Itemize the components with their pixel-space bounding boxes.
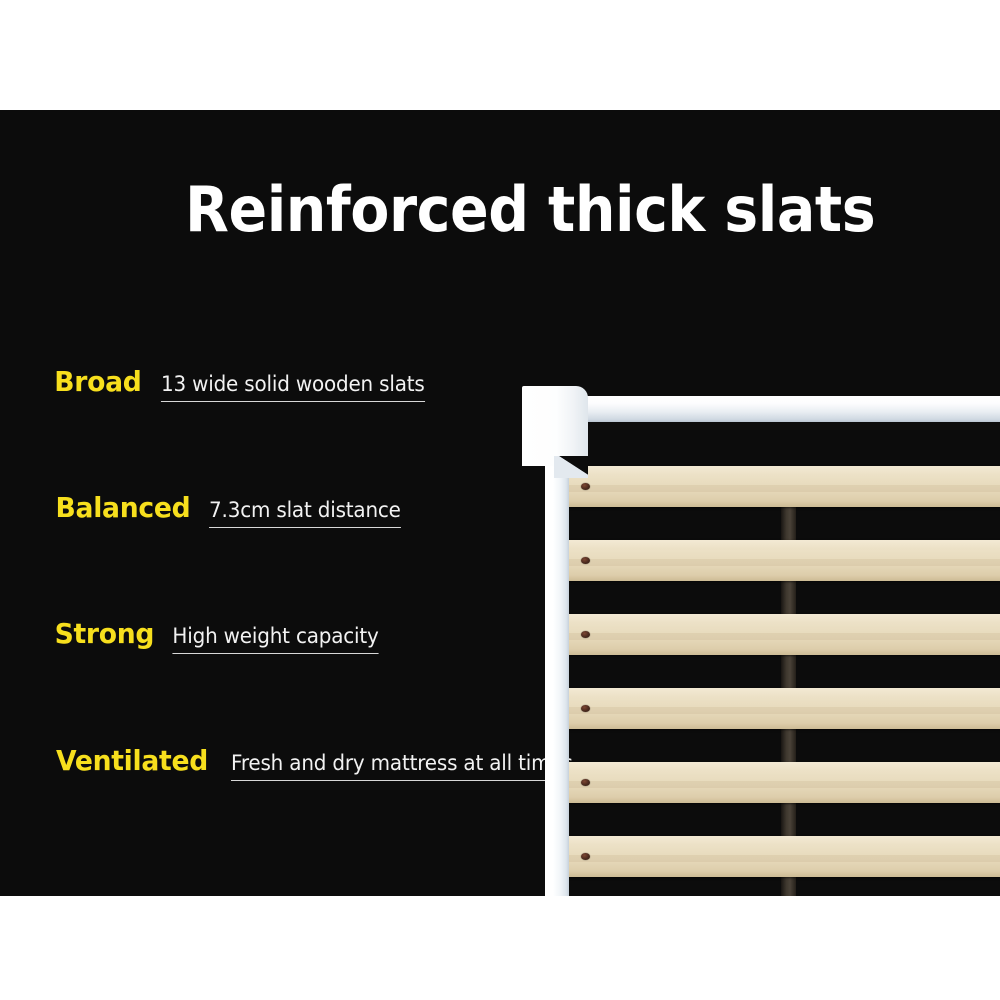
feature-description: 7.3cm slat distance bbox=[209, 498, 401, 528]
slat-screw bbox=[581, 483, 590, 490]
feature-item-ventilated: Ventilated Fresh and dry mattress at all… bbox=[52, 744, 582, 781]
slat-screw bbox=[581, 853, 590, 860]
bottom-white-margin bbox=[0, 896, 1000, 1000]
side-rail-shadow bbox=[553, 422, 1000, 439]
corner-post bbox=[522, 386, 588, 466]
feature-description: High weight capacity bbox=[172, 624, 378, 654]
wooden-slat bbox=[567, 762, 1000, 803]
product-photo bbox=[505, 280, 1000, 896]
feature-description: 13 wide solid wooden slats bbox=[161, 372, 425, 402]
wooden-slat-group bbox=[505, 280, 1000, 896]
slat-screw bbox=[581, 557, 590, 564]
side-rail bbox=[550, 396, 1000, 422]
slat-screw bbox=[581, 705, 590, 712]
feature-term: Broad bbox=[54, 365, 141, 398]
support-leg bbox=[545, 464, 569, 896]
slat-screw bbox=[581, 779, 590, 786]
wooden-slat bbox=[567, 688, 1000, 729]
black-feature-panel: Reinforced thick slats Broad 13 wide sol… bbox=[0, 110, 1000, 896]
wooden-slat bbox=[567, 614, 1000, 655]
feature-term: Strong bbox=[55, 617, 155, 650]
feature-item-broad: Broad 13 wide solid wooden slats bbox=[52, 365, 431, 402]
feature-item-balanced: Balanced 7.3cm slat distance bbox=[52, 491, 406, 528]
corner-post-bevel bbox=[554, 456, 588, 478]
feature-term: Ventilated bbox=[56, 744, 208, 777]
wooden-slat bbox=[567, 466, 1000, 507]
slat-screw bbox=[581, 631, 590, 638]
wooden-slat bbox=[567, 540, 1000, 581]
page-title: Reinforced thick slats bbox=[185, 178, 884, 241]
feature-item-strong: Strong High weight capacity bbox=[52, 617, 384, 654]
product-feature-poster: Reinforced thick slats Broad 13 wide sol… bbox=[0, 0, 1000, 1000]
top-white-margin bbox=[0, 0, 1000, 110]
wooden-slat bbox=[567, 836, 1000, 877]
feature-term: Balanced bbox=[56, 491, 191, 524]
